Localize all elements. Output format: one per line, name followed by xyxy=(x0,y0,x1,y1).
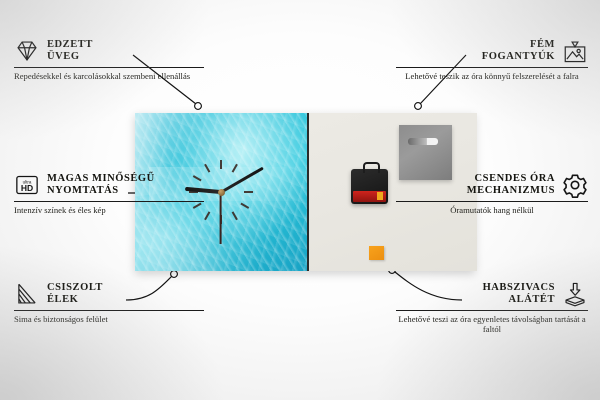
gear-icon xyxy=(562,172,588,198)
callout-title-line2: FOGANTYÚK xyxy=(482,51,555,64)
callout-description: Óramutatók hang nélkül xyxy=(396,205,588,215)
callout-title: FÉM FOGANTYÚK xyxy=(482,39,555,64)
callout-description: Lehetővé teszi az óra egyenletes távolsá… xyxy=(396,314,588,335)
diamond-icon xyxy=(14,38,40,64)
callout-divider xyxy=(14,201,204,202)
callout-title: CSENDES ÓRA MECHANIZMUS xyxy=(467,173,555,198)
ultra-hd-icon-bottom-label: HD xyxy=(21,183,33,193)
callout-divider xyxy=(14,67,204,68)
callout-title: HABSZIVACS ALÁTÉT xyxy=(483,282,555,307)
infographic-canvas: EDZETT ÜVEG Repedésekkel és karcolásokka… xyxy=(0,0,600,400)
ultra-hd-icon: ultra HD xyxy=(14,172,40,198)
callout-description: Repedésekkel és karcolásokkal szembeni e… xyxy=(14,71,204,81)
callout-title-line1: CSISZOLT xyxy=(47,282,103,295)
callout-divider xyxy=(14,310,204,311)
hanger-slot xyxy=(408,138,438,145)
clock-mechanism xyxy=(351,169,388,204)
polished-edges-icon xyxy=(14,281,40,307)
foam-spacer-pad xyxy=(369,246,384,260)
callout-description: Lehetővé teszik az óra könnyű felszerelé… xyxy=(396,71,588,81)
callout-title-line1: FÉM xyxy=(482,39,555,52)
callout-csendes-ora-mechanizmus: CSENDES ÓRA MECHANIZMUS Óramutatók hang … xyxy=(396,172,588,215)
clock-center-cap xyxy=(218,189,225,196)
second-hand xyxy=(220,192,222,244)
callout-fem-fogantyuk: FÉM FOGANTYÚK Lehetővé teszik az óra kön… xyxy=(396,38,588,81)
callout-header: CSISZOLT ÉLEK xyxy=(14,281,204,307)
callout-header: ultra HD MAGAS MINŐSÉGŰ NYOMTATÁS xyxy=(14,172,204,198)
callout-divider xyxy=(396,67,588,68)
callout-description: Sima és biztonságos felület xyxy=(14,314,204,324)
callout-header: CSENDES ÓRA MECHANIZMUS xyxy=(396,172,588,198)
callout-title-line1: CSENDES ÓRA xyxy=(467,173,555,186)
callout-title-line1: MAGAS MINŐSÉGŰ xyxy=(47,173,155,186)
callout-magas-minosegu-nyomtatas: ultra HD MAGAS MINŐSÉGŰ NYOMTATÁS Intenz… xyxy=(14,172,204,215)
callout-csiszolt-elek: CSISZOLT ÉLEK Sima és biztonságos felüle… xyxy=(14,281,204,324)
battery xyxy=(353,191,386,202)
callout-title-line1: HABSZIVACS xyxy=(483,282,555,295)
callout-title-line2: ALÁTÉT xyxy=(483,294,555,307)
callout-divider xyxy=(396,310,588,311)
callout-title-line2: ÉLEK xyxy=(47,294,103,307)
callout-title: CSISZOLT ÉLEK xyxy=(47,282,103,307)
callout-title-line2: NYOMTATÁS xyxy=(47,185,155,198)
picture-hanger-icon xyxy=(562,38,588,64)
callout-title-line2: ÜVEG xyxy=(47,51,93,64)
mechanism-handle xyxy=(363,162,380,173)
battery-terminal xyxy=(377,192,383,200)
foam-pad-icon xyxy=(562,281,588,307)
callout-divider xyxy=(396,201,588,202)
callout-title: EDZETT ÜVEG xyxy=(47,39,93,64)
callout-edzett-uveg: EDZETT ÜVEG Repedésekkel és karcolásokka… xyxy=(14,38,204,81)
callout-habszivacs-alatet: HABSZIVACS ALÁTÉT Lehetővé teszi az óra … xyxy=(396,281,588,335)
callout-header: FÉM FOGANTYÚK xyxy=(396,38,588,64)
callout-header: HABSZIVACS ALÁTÉT xyxy=(396,281,588,307)
callout-title-line1: EDZETT xyxy=(47,39,93,52)
callout-header: EDZETT ÜVEG xyxy=(14,38,204,64)
callout-title-line2: MECHANIZMUS xyxy=(467,185,555,198)
callout-title: MAGAS MINŐSÉGŰ NYOMTATÁS xyxy=(47,173,155,198)
callout-description: Intenzív színek és éles kép xyxy=(14,205,204,215)
